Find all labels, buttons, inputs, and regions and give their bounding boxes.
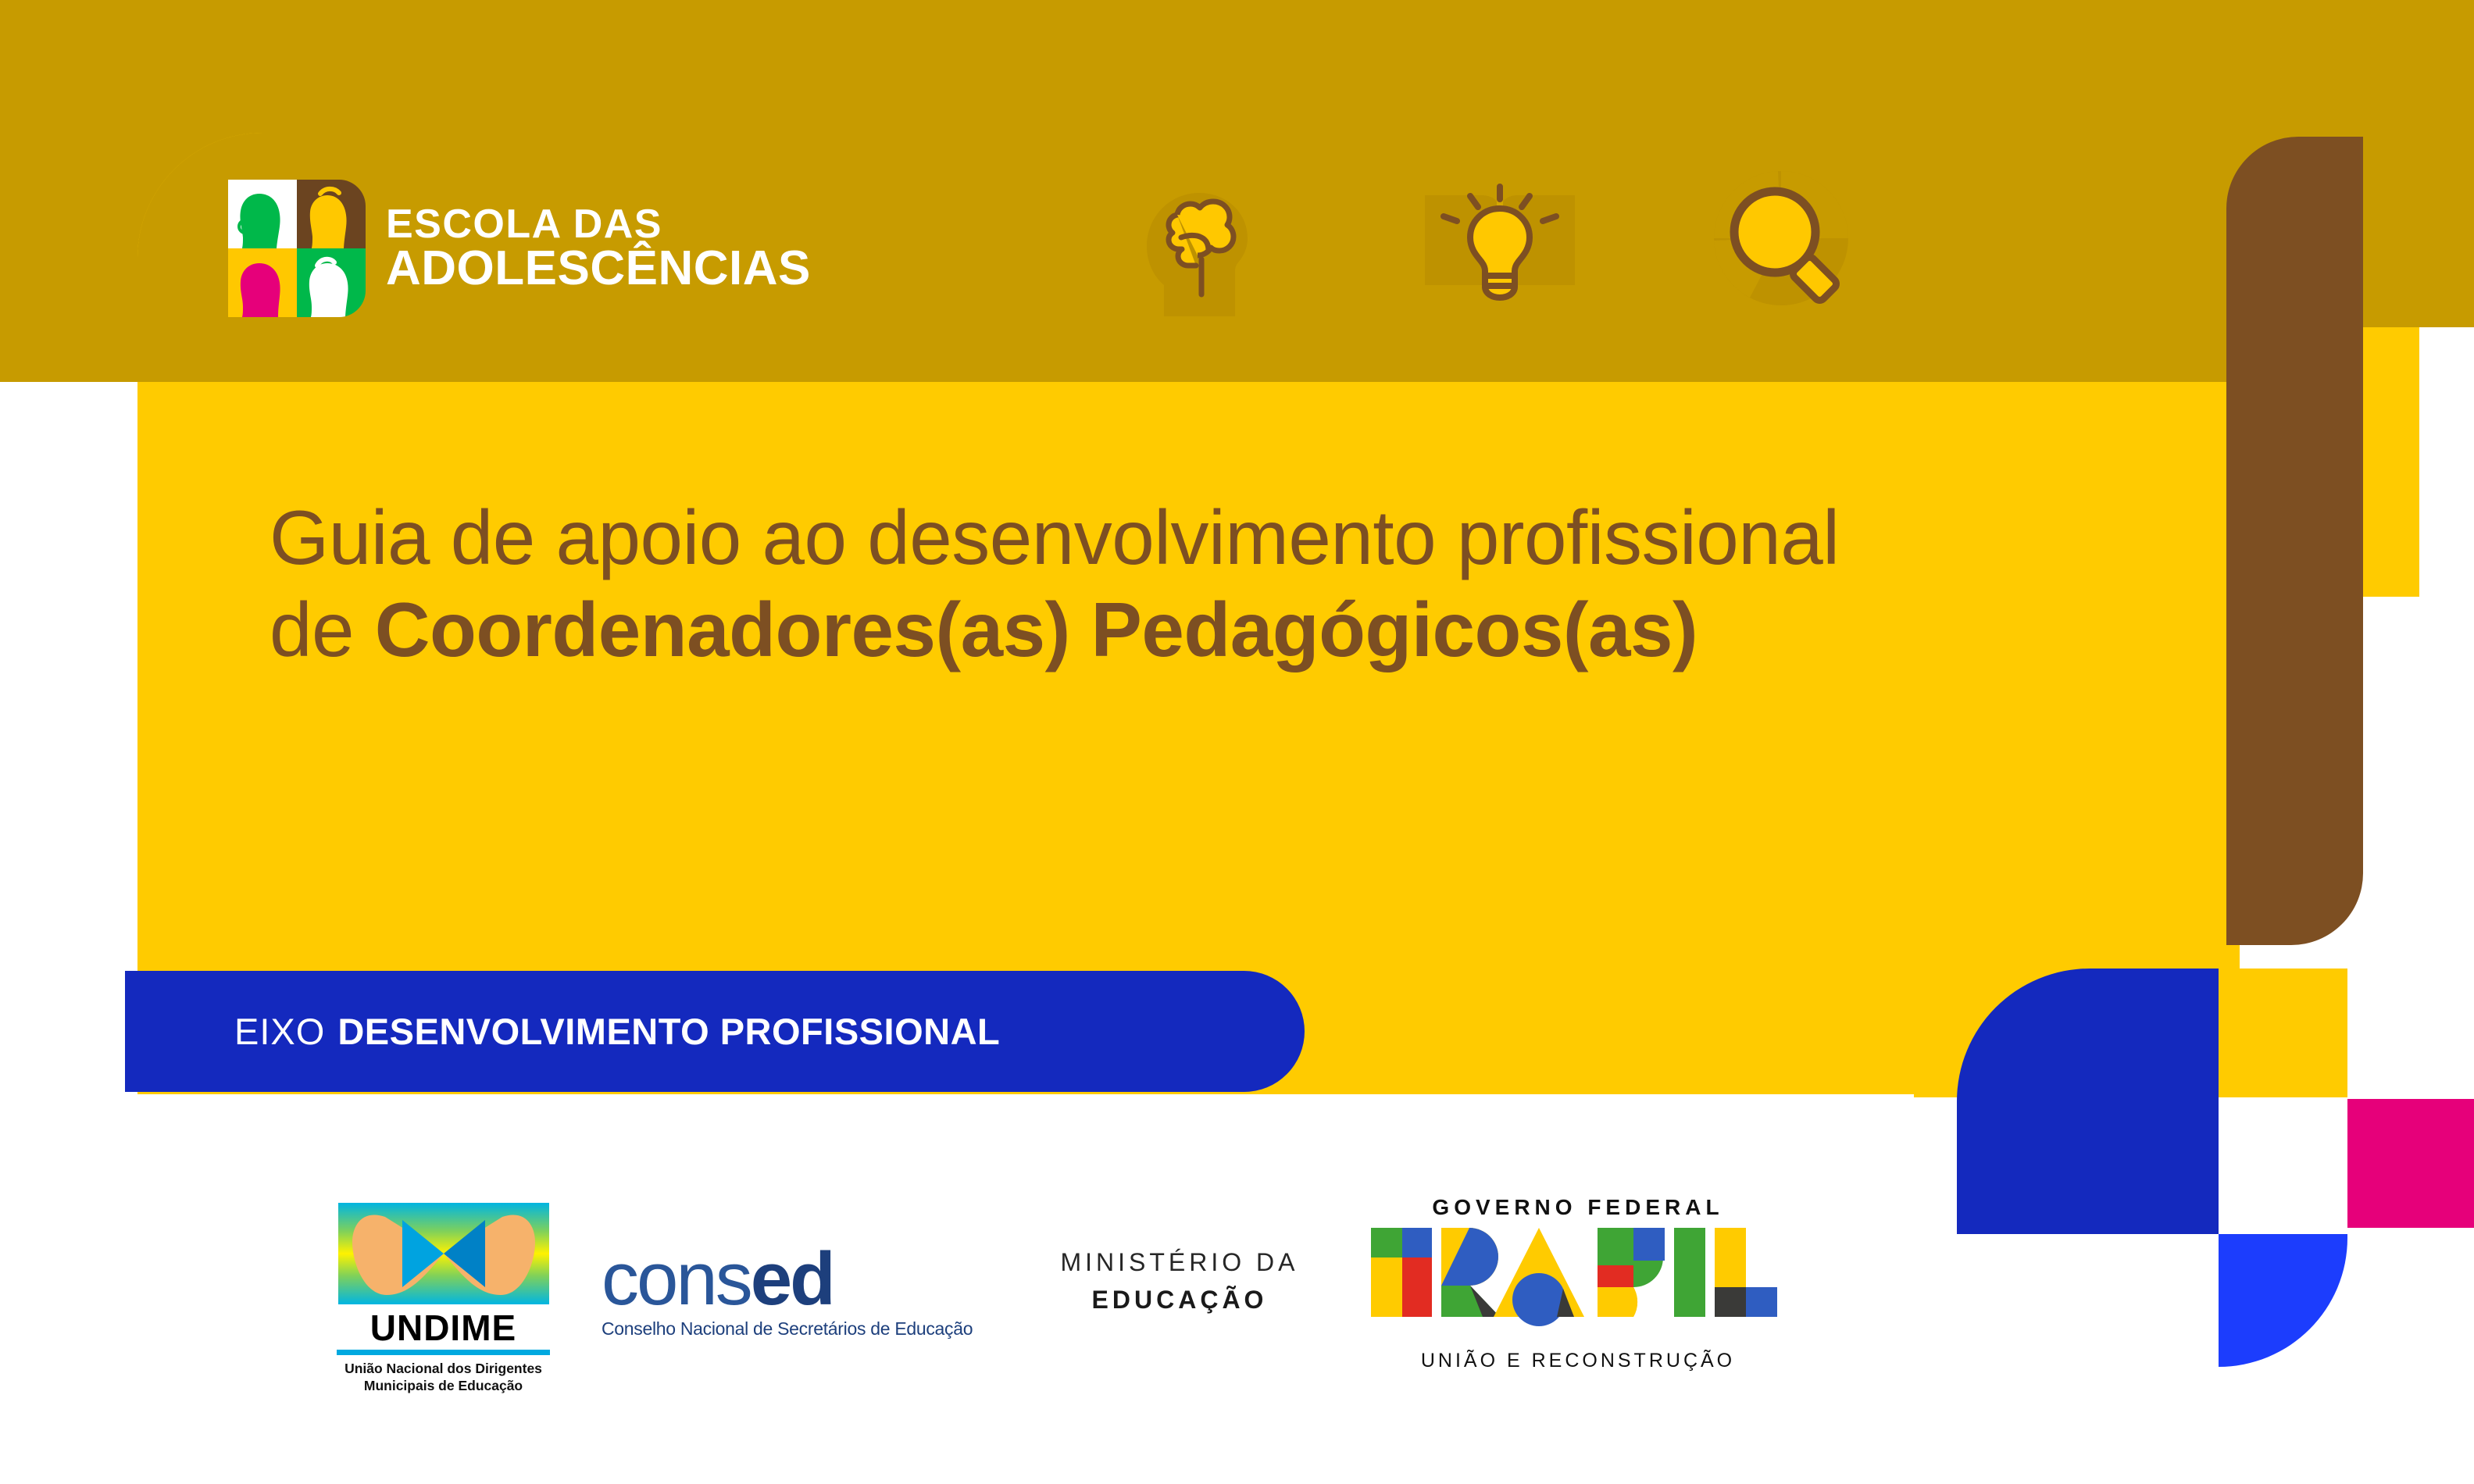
eixo-banner: EIXO DESENVOLVIMENTO PROFISSIONAL (125, 971, 1305, 1092)
mec-line2: EDUCAÇÃO (1039, 1286, 1320, 1315)
consed-logo: consed Conselho Nacional de Secretários … (602, 1242, 976, 1340)
decor-pink-square (2347, 1099, 2474, 1228)
governo-top-label: GOVERNO FEDERAL (1371, 1195, 1785, 1220)
decor-light-blue-quarter-circle (2219, 1234, 2347, 1367)
book-lightbulb-icon (1422, 160, 1578, 316)
mec-line1: MINISTÉRIO DA (1039, 1248, 1320, 1277)
undime-butterfly-icon (338, 1203, 549, 1304)
undime-logo: UNDIME União Nacional dos Dirigentes Mun… (332, 1203, 555, 1395)
brown-accent-bar (2226, 137, 2363, 945)
undime-subtitle-line1: União Nacional dos Dirigentes (332, 1360, 555, 1377)
decor-yellow-square (2219, 969, 2347, 1097)
header-icon-row (1141, 160, 1859, 316)
eixo-label: EIXO (234, 1010, 325, 1053)
consed-wordmark: consed (602, 1242, 976, 1317)
governo-bottom-label: UNIÃO E RECONSTRUÇÃO (1371, 1350, 1785, 1372)
consed-word-light: cons (602, 1237, 751, 1321)
decor-blue-rounded-block (1957, 969, 2219, 1234)
consed-word-bold: ed (751, 1237, 834, 1321)
page-title-bold: Coordenadores(as) Pedagógicos(as) (375, 587, 1698, 672)
undime-wordmark: UNDIME (332, 1310, 555, 1346)
page-title: Guia de apoio ao desenvolvimento profiss… (270, 492, 1910, 676)
undime-divider (337, 1350, 550, 1355)
brand-logo-line1: ESCOLA DAS (386, 205, 811, 243)
governo-federal-logo: GOVERNO FEDERAL UNIÃO E RECONSTR (1371, 1195, 1785, 1372)
eixo-value: DESENVOLVIMENTO PROFISSIONAL (337, 1010, 1000, 1053)
magnifier-piechart-icon (1703, 160, 1859, 316)
decor-yellow-block-left (1914, 945, 1962, 1097)
consed-subtitle: Conselho Nacional de Secretários de Educ… (602, 1318, 976, 1340)
undime-subtitle-line2: Municipais de Educação (332, 1377, 555, 1394)
brand-logo-line2: ADOLESCÊNCIAS (386, 246, 811, 291)
brasil-wordmark-icon (1371, 1228, 1785, 1345)
brand-logo[interactable]: ESCOLA DAS ADOLESCÊNCIAS (228, 180, 811, 317)
four-faces-grid-icon (228, 180, 366, 317)
head-brain-icon (1141, 160, 1297, 316)
mec-logo: MINISTÉRIO DA EDUCAÇÃO (1039, 1248, 1320, 1315)
